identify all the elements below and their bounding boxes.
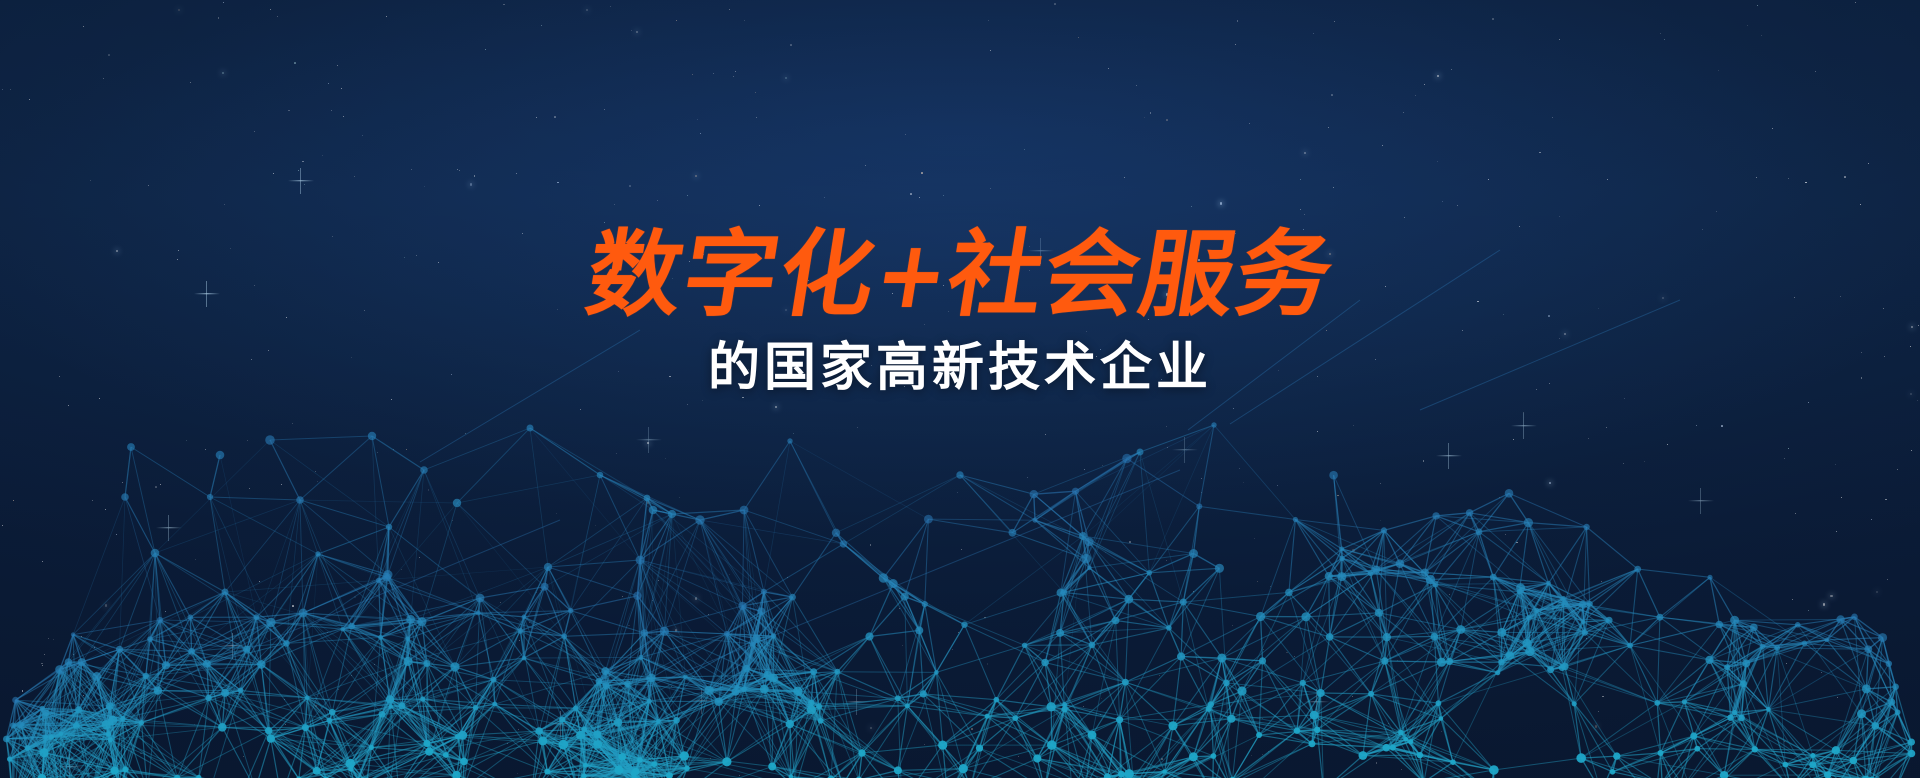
hero-headline: 数字化+社会服务: [580, 228, 1340, 324]
hero-text-block: 数字化+社会服务 的国家高新技术企业: [0, 228, 1920, 397]
hero-banner: 数字化+社会服务 的国家高新技术企业: [0, 0, 1920, 778]
hero-subheadline: 的国家高新技术企业: [0, 340, 1920, 397]
network-nodes: [3, 422, 1915, 778]
